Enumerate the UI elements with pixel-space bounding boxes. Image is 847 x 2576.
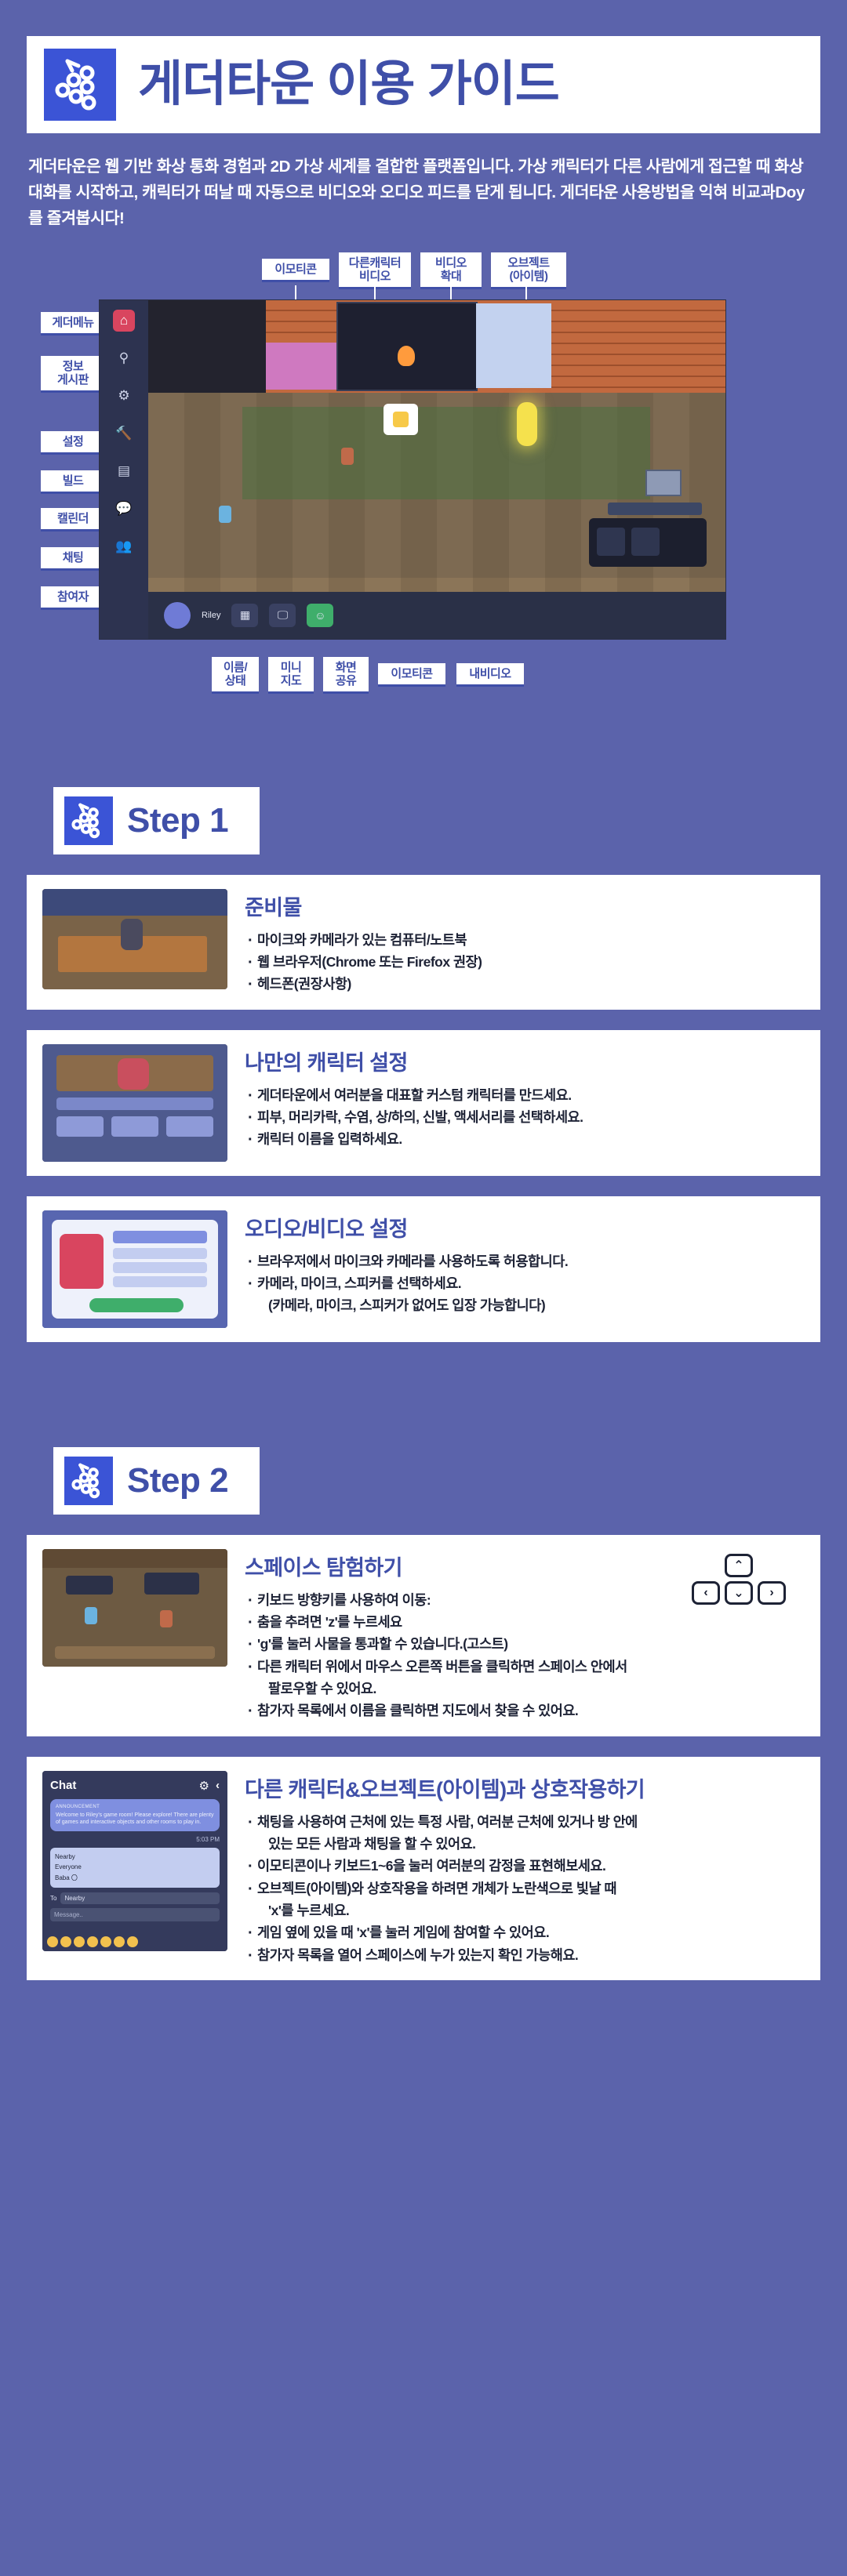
emoji-icon[interactable] xyxy=(74,1936,85,1947)
list-item: 게임 옆에 있을 때 'x'를 눌러 게임에 참여할 수 있어요. xyxy=(245,1921,805,1943)
chat-title: Chat xyxy=(50,1779,76,1792)
list-item: 춤을 추려면 'z'를 누르세요 xyxy=(245,1611,805,1633)
chat-panel: Chat ⚙ ‹ ANNOUNCEMENT Welcome to Riley's… xyxy=(42,1771,227,1951)
gear-icon[interactable]: ⚙ xyxy=(199,1779,209,1793)
list-item: 있는 모든 사람과 채팅을 할 수 있어요. xyxy=(245,1833,805,1855)
gather-grape-logo-icon xyxy=(44,49,116,121)
card-bullet-list: 마이크와 카메라가 있는 컴퓨터/노트북 웹 브라우저(Chrome 또는 Fi… xyxy=(245,929,805,996)
map-dark-area xyxy=(148,300,266,393)
callout-calendar: 캘린더 xyxy=(41,508,105,532)
page-header: 게더타운 이용 가이드 xyxy=(27,36,820,133)
gather-grape-logo-icon xyxy=(64,1457,113,1505)
dropdown-option-nearby[interactable]: Nearby xyxy=(55,1852,215,1862)
emoticon-icon[interactable]: ☺ xyxy=(307,604,333,627)
step-2-label: Step 2 xyxy=(127,1461,228,1500)
callout-name-status: 이름/ 상태 xyxy=(212,657,259,695)
chevron-left-icon[interactable]: ‹ xyxy=(216,1779,220,1793)
card-preparation: 준비물 마이크와 카메라가 있는 컴퓨터/노트북 웹 브라우저(Chrome 또… xyxy=(27,875,820,1010)
list-item: 브라우저에서 마이크와 카메라를 사용하도록 허용합니다. xyxy=(245,1250,805,1272)
map-pink-rug xyxy=(266,343,344,390)
map-banner xyxy=(608,503,702,515)
list-item: 'x'를 누르세요. xyxy=(245,1899,805,1921)
gear-icon[interactable]: ⚙ xyxy=(113,385,135,407)
emoji-icon[interactable] xyxy=(127,1936,138,1947)
announcement-label: ANNOUNCEMENT xyxy=(56,1804,214,1810)
arrow-up-key[interactable]: ⌃ xyxy=(725,1554,753,1577)
callout-object-item: 오브젝트 (아이템) xyxy=(491,252,566,290)
callout-emoticon-bottom: 이모티콘 xyxy=(378,663,445,687)
step-1-banner: Step 1 xyxy=(53,787,260,854)
game-map xyxy=(148,300,725,639)
list-item: 팔로우할 수 있어요. xyxy=(245,1678,805,1700)
chat-timestamp: 5:03 PM xyxy=(50,1836,220,1843)
map-carpet xyxy=(242,407,650,499)
list-item: 참가자 목록을 열어 스페이스에 누가 있는지 확인 가능해요. xyxy=(245,1944,805,1966)
callout-emoticon-top: 이모티콘 xyxy=(262,259,329,282)
to-value-select[interactable]: Nearby xyxy=(60,1892,220,1904)
annotated-screenshot: 이모티콘 다른캐릭터 비디오 비디오 확대 오브젝트 (아이템) 게더메뉴 정보… xyxy=(27,249,820,704)
card-audio-video-setup: 오디오/비디오 설정 브라우저에서 마이크와 카메라를 사용하도록 허용합니다.… xyxy=(27,1196,820,1342)
gather-grape-logo-icon xyxy=(64,796,113,845)
map-campfire xyxy=(398,346,415,366)
list-item: 오브젝트(아이템)와 상호작용을 하려면 개체가 노란색으로 빛날 때 xyxy=(245,1878,805,1899)
list-item: 채팅을 사용하여 근처에 있는 특정 사람, 여러분 근처에 있거나 방 안에 xyxy=(245,1811,805,1833)
callout-info-board: 정보 게시판 xyxy=(41,356,105,394)
list-item: 다른 캐릭터 위에서 마우스 오른쪽 버튼을 클릭하면 스페이스 안에서 xyxy=(245,1656,805,1678)
emoji-icon[interactable] xyxy=(100,1936,111,1947)
callout-my-video: 내비디오 xyxy=(456,663,524,687)
audio-video-settings-thumb xyxy=(42,1210,227,1328)
card-bullet-list: 키보드 방향키를 사용하여 이동: 춤을 추려면 'z'를 누르세요 'g'를 … xyxy=(245,1589,805,1722)
list-item: 카메라, 마이크, 스피커를 선택하세요. xyxy=(245,1272,805,1294)
emoji-bar[interactable] xyxy=(47,1936,223,1947)
map-avatar-self xyxy=(219,506,231,523)
callout-minimap: 미니 지도 xyxy=(268,657,314,695)
card-bullet-list: 채팅을 사용하여 근처에 있는 특정 사람, 여러분 근처에 있거나 방 안에 … xyxy=(245,1811,805,1966)
list-item: 게더타운에서 여러분을 대표할 커스텀 캐릭터를 만드세요. xyxy=(245,1084,805,1106)
announcement-text: Welcome to Riley's game room! Please exp… xyxy=(56,1812,213,1825)
step-1-label: Step 1 xyxy=(127,801,228,840)
intro-paragraph: 게더타운은 웹 기반 화상 통화 경험과 2D 가상 세계를 결합한 플랫폼입니… xyxy=(28,154,819,232)
callout-settings: 설정 xyxy=(41,431,105,455)
calendar-icon[interactable]: ▤ xyxy=(113,460,135,482)
hammer-icon[interactable]: 🔨 xyxy=(113,423,135,444)
card-character-setup: 나만의 캐릭터 설정 게더타운에서 여러분을 대표할 커스텀 캐릭터를 만드세요… xyxy=(27,1030,820,1176)
user-name-status: Riley xyxy=(202,611,220,620)
list-item: 참가자 목록에서 이름을 클릭하면 지도에서 찾을 수 있어요. xyxy=(245,1700,805,1722)
callout-chat: 채팅 xyxy=(41,547,105,571)
step-2-banner: Step 2 xyxy=(53,1447,260,1515)
chat-recipient-dropdown[interactable]: Nearby Everyone Baba 〇 xyxy=(50,1848,220,1888)
app-sidebar[interactable]: ⌂ ⚲ ⚙ 🔨 ▤ 💬 👥 xyxy=(100,300,148,639)
callout-gather-menu: 게더메뉴 xyxy=(41,312,105,336)
callout-participants: 참여자 xyxy=(41,586,105,610)
card-title: 오디오/비디오 설정 xyxy=(245,1212,805,1243)
map-glowing-object xyxy=(517,402,537,446)
step-2-banner-row: Step 2 xyxy=(27,1392,847,1515)
list-item: (카메라, 마이크, 스피커가 없어도 입장 가능합니다) xyxy=(245,1294,805,1316)
dropdown-option-user[interactable]: Baba 〇 xyxy=(55,1872,215,1884)
card-title: 나만의 캐릭터 설정 xyxy=(245,1046,805,1076)
chat-icon[interactable]: 💬 xyxy=(113,498,135,520)
map-avatar-other xyxy=(341,448,354,465)
list-item: 캐릭터 이름을 입력하세요. xyxy=(245,1128,805,1150)
classroom-desk-thumb xyxy=(42,889,227,989)
list-item: 피부, 머리카락, 수염, 상/하의, 신발, 액세서리를 선택하세요. xyxy=(245,1106,805,1128)
list-item: 키보드 방향키를 사용하여 이동: xyxy=(245,1589,805,1611)
callout-screen-share: 화면 공유 xyxy=(323,657,369,695)
map-machine xyxy=(645,470,682,496)
dropdown-option-everyone[interactable]: Everyone xyxy=(55,1862,215,1872)
emoji-icon[interactable] xyxy=(60,1936,71,1947)
list-item: 웹 브라우저(Chrome 또는 Firefox 권장) xyxy=(245,951,805,973)
emoji-icon[interactable] xyxy=(87,1936,98,1947)
chat-panel-thumb: Chat ⚙ ‹ ANNOUNCEMENT Welcome to Riley's… xyxy=(42,1771,227,1951)
list-item: 이모티콘이나 키보드1~6을 눌러 여러분의 감정을 표현해보세요. xyxy=(245,1855,805,1877)
card-title: 준비물 xyxy=(245,891,805,921)
card-title: 다른 캐릭터&오브젝트(아이템)과 상호작용하기 xyxy=(245,1772,805,1803)
card-bullet-list: 게더타운에서 여러분을 대표할 커스텀 캐릭터를 만드세요. 피부, 머리카락,… xyxy=(245,1084,805,1151)
pin-icon[interactable]: ⚲ xyxy=(113,347,135,369)
page-title: 게더타운 이용 가이드 xyxy=(138,60,559,109)
callout-build: 빌드 xyxy=(41,470,105,494)
gather-app-screenshot: ⌂ ⚲ ⚙ 🔨 ▤ 💬 👥 Riley ▦ 🖵 ☺ xyxy=(99,299,726,640)
card-interaction: Chat ⚙ ‹ ANNOUNCEMENT Welcome to Riley's… xyxy=(27,1757,820,1980)
minimap-icon[interactable]: ▦ xyxy=(231,604,258,627)
guide-page: 게더타운 이용 가이드 게더타운은 웹 기반 화상 통화 경험과 2D 가상 세… xyxy=(0,36,847,2027)
app-bottom-bar[interactable]: Riley ▦ 🖵 ☺ xyxy=(148,592,725,639)
list-item: 'g'를 눌러 사물을 통과할 수 있습니다.(고스트) xyxy=(245,1633,805,1655)
map-light-panel xyxy=(476,303,551,388)
map-emoticon-popup xyxy=(384,404,418,435)
people-icon[interactable]: 👥 xyxy=(113,535,135,557)
emoji-icon[interactable] xyxy=(47,1936,58,1947)
message-input[interactable]: Message.. xyxy=(50,1908,220,1921)
home-icon[interactable]: ⌂ xyxy=(113,310,135,332)
card-explore-space: ⌃ ‹ ⌄ › 스페이스 탐험하기 키보드 방향키를 사용하여 이동: 춤을 추… xyxy=(27,1535,820,1736)
card-bullet-list: 브라우저에서 마이크와 카메라를 사용하도록 허용합니다. 카메라, 마이크, … xyxy=(245,1250,805,1317)
step-1-banner-row: Step 1 xyxy=(27,732,847,854)
screen-share-icon[interactable]: 🖵 xyxy=(269,604,296,627)
map-video-tiles xyxy=(589,518,707,567)
list-item: 헤드폰(권장사항) xyxy=(245,973,805,995)
announcement-bubble: ANNOUNCEMENT Welcome to Riley's game roo… xyxy=(50,1799,220,1831)
list-item: 마이크와 카메라가 있는 컴퓨터/노트북 xyxy=(245,929,805,951)
emoji-icon[interactable] xyxy=(114,1936,125,1947)
character-creator-thumb xyxy=(42,1044,227,1162)
space-explore-thumb xyxy=(42,1549,227,1667)
to-label: To xyxy=(50,1895,56,1902)
avatar[interactable] xyxy=(164,602,191,629)
